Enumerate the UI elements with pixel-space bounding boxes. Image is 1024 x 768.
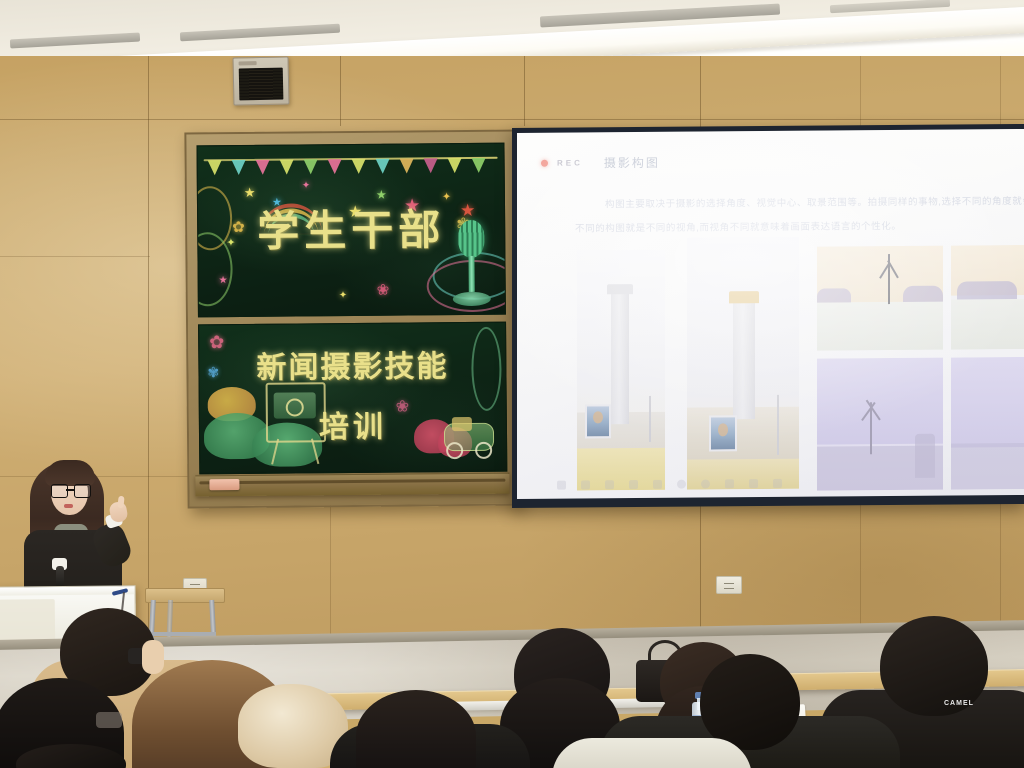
jacket-logo: CAMEL <box>944 700 974 707</box>
tray-groove <box>199 479 505 485</box>
star-icon: ✦ <box>302 181 310 191</box>
blackboard-top-title: 学生干部 <box>198 196 505 260</box>
bunting-flag <box>208 160 222 175</box>
audience-ear <box>142 640 164 674</box>
photo-shoreline <box>957 281 1017 299</box>
photo-water <box>817 302 943 351</box>
bunting-flag <box>472 158 486 173</box>
photo-tower <box>915 434 935 478</box>
slide-body-line1: 构图主要取决于摄影的选择角度、视觉中心、取景范围等。拍摄同样的事物,选择不同的角… <box>605 193 1024 211</box>
slide-photo <box>817 246 943 351</box>
slideshow-icon[interactable] <box>749 479 758 488</box>
bunting-flag <box>424 158 438 173</box>
tree-branch <box>888 254 890 270</box>
slide-photo <box>687 237 799 490</box>
panel-seam <box>0 256 150 257</box>
rec-label: REC <box>557 158 583 167</box>
slide-photo <box>577 250 665 491</box>
presentation-toolbar[interactable] <box>557 474 1010 493</box>
lecture-hall-photo: ★ ★ ✦ ★ ★ ★ ✦ ★ ✦ ★ ✦ ✿ ❀ ✾ <box>0 0 1024 768</box>
photo-tree <box>853 394 889 454</box>
photo-water <box>951 299 1024 350</box>
bunting-flag <box>376 159 390 174</box>
bunting-flag <box>256 160 270 175</box>
blackboard-bottom-panel: ✿ ✾ ❀ 新闻摄影技能 培训 <box>198 322 507 475</box>
photo-portrait <box>709 415 737 451</box>
handheld-microphone <box>56 566 64 588</box>
photo-sky <box>951 357 1024 448</box>
microphone-base <box>453 292 491 306</box>
more-icon[interactable] <box>773 479 782 488</box>
panel-seam <box>340 56 341 126</box>
presenter-mouth <box>64 504 73 508</box>
glasses-bridge <box>66 489 74 491</box>
bunting-flag <box>400 158 414 173</box>
bunting-flag <box>304 159 318 174</box>
chalkboard-eraser <box>209 479 239 490</box>
shapes-icon[interactable] <box>653 480 662 489</box>
projection-screen-frame: REC 摄影构图 构图主要取决于摄影的选择角度、视觉中心、取景范围等。拍摄同样的… <box>512 124 1024 508</box>
glasses-icon <box>51 484 89 496</box>
panel-seam <box>524 56 525 126</box>
microphone-stem <box>468 256 474 292</box>
wall-speaker-icon <box>233 56 290 105</box>
laser-icon[interactable] <box>677 480 686 489</box>
butterfly-icon: ❀ <box>377 283 390 298</box>
glasses-lens <box>51 484 68 498</box>
glasses-icon <box>96 712 122 728</box>
photo-monument <box>611 292 629 424</box>
blackboard-bottom-line2: 培训 <box>200 401 506 448</box>
photo-portrait <box>585 404 611 438</box>
eraser-icon[interactable] <box>629 480 638 489</box>
bunting-flag <box>352 159 366 174</box>
audience-head <box>700 654 800 750</box>
blackboard-bottom-line1: 新闻摄影技能 <box>199 341 505 388</box>
bunting-flag <box>232 160 246 175</box>
white-hoodie <box>552 738 752 768</box>
speaker-grill <box>239 68 284 101</box>
slide-body-line2: 不同的构图就是不同的视角,而视角不同就意味着画面表达语言的个性化。 <box>575 218 901 235</box>
slide-title: 摄影构图 <box>604 154 660 171</box>
photo-flagpole <box>777 395 779 455</box>
glasses-lens <box>74 484 91 498</box>
photo-flagpole <box>649 396 651 442</box>
speaker-brand-plate <box>239 61 257 65</box>
bunting-flag <box>280 160 294 175</box>
presenter-bangs <box>45 460 95 486</box>
chalk-tray <box>195 473 509 497</box>
slide-photo <box>951 357 1024 490</box>
record-icon[interactable] <box>701 479 710 488</box>
slide-photo <box>951 245 1024 350</box>
pen-icon[interactable] <box>581 480 590 489</box>
projected-slide[interactable]: REC 摄影构图 构图主要取决于摄影的选择角度、视觉中心、取景范围等。拍摄同样的… <box>517 129 1024 499</box>
bunting-flag <box>448 158 462 173</box>
record-dot-icon <box>541 160 548 167</box>
photo-monument-cap <box>729 291 759 303</box>
photo-monument <box>733 301 755 419</box>
blackboard-frame: ★ ★ ✦ ★ ★ ★ ✦ ★ ✦ ★ ✦ ✿ ❀ ✾ <box>184 130 519 509</box>
photo-shoreline <box>817 288 851 302</box>
note-icon[interactable] <box>725 479 734 488</box>
panel-seam <box>0 119 1024 120</box>
cursor-icon[interactable] <box>557 481 566 490</box>
star-icon: ✦ <box>339 291 347 301</box>
bunting-flag <box>328 159 342 174</box>
blackboard-top-panel: ★ ★ ✦ ★ ★ ★ ✦ ★ ✦ ★ ✦ ✿ ❀ ✾ <box>196 143 505 318</box>
photo-monument-cap <box>607 284 633 294</box>
photo-shoreline <box>903 286 943 302</box>
slide-photo <box>817 358 943 491</box>
wall-outlet-right <box>716 576 742 594</box>
rec-indicator: REC 摄影构图 <box>541 154 660 172</box>
highlighter-icon[interactable] <box>605 480 614 489</box>
